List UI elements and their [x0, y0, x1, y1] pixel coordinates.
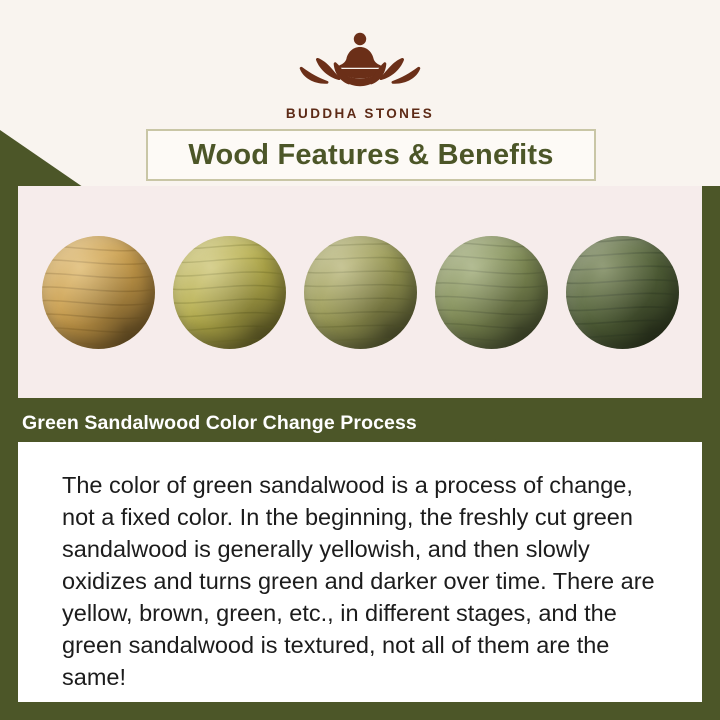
bead-sheen-3: [304, 236, 417, 349]
bead-sheen-1: [42, 236, 155, 349]
wood-bead-2: [173, 236, 286, 349]
bead-sheen-2: [173, 236, 286, 349]
body-panel: The color of green sandalwood is a proce…: [18, 442, 702, 702]
wood-bead-4: [435, 236, 548, 349]
wood-bead-row: [18, 186, 702, 398]
poster-frame: BUDDHA STONES Wood Features & Benefits: [0, 0, 720, 720]
brand-logo: BUDDHA STONES: [0, 22, 720, 121]
bead-sheen-5: [566, 236, 679, 349]
section-subtitle-bar: Green Sandalwood Color Change Process: [0, 404, 516, 442]
page-title-box: Wood Features & Benefits: [146, 129, 596, 181]
wood-bead-3: [304, 236, 417, 349]
wood-bead-1: [42, 236, 155, 349]
lotus-buddha-icon: [285, 22, 435, 100]
bead-sheen-4: [435, 236, 548, 349]
bead-band-right-edge: [702, 186, 720, 398]
section-subtitle: Green Sandalwood Color Change Process: [0, 412, 417, 435]
page-title: Wood Features & Benefits: [188, 139, 553, 172]
brand-name: BUDDHA STONES: [0, 106, 720, 121]
wood-bead-5: [566, 236, 679, 349]
body-paragraph: The color of green sandalwood is a proce…: [62, 470, 672, 694]
